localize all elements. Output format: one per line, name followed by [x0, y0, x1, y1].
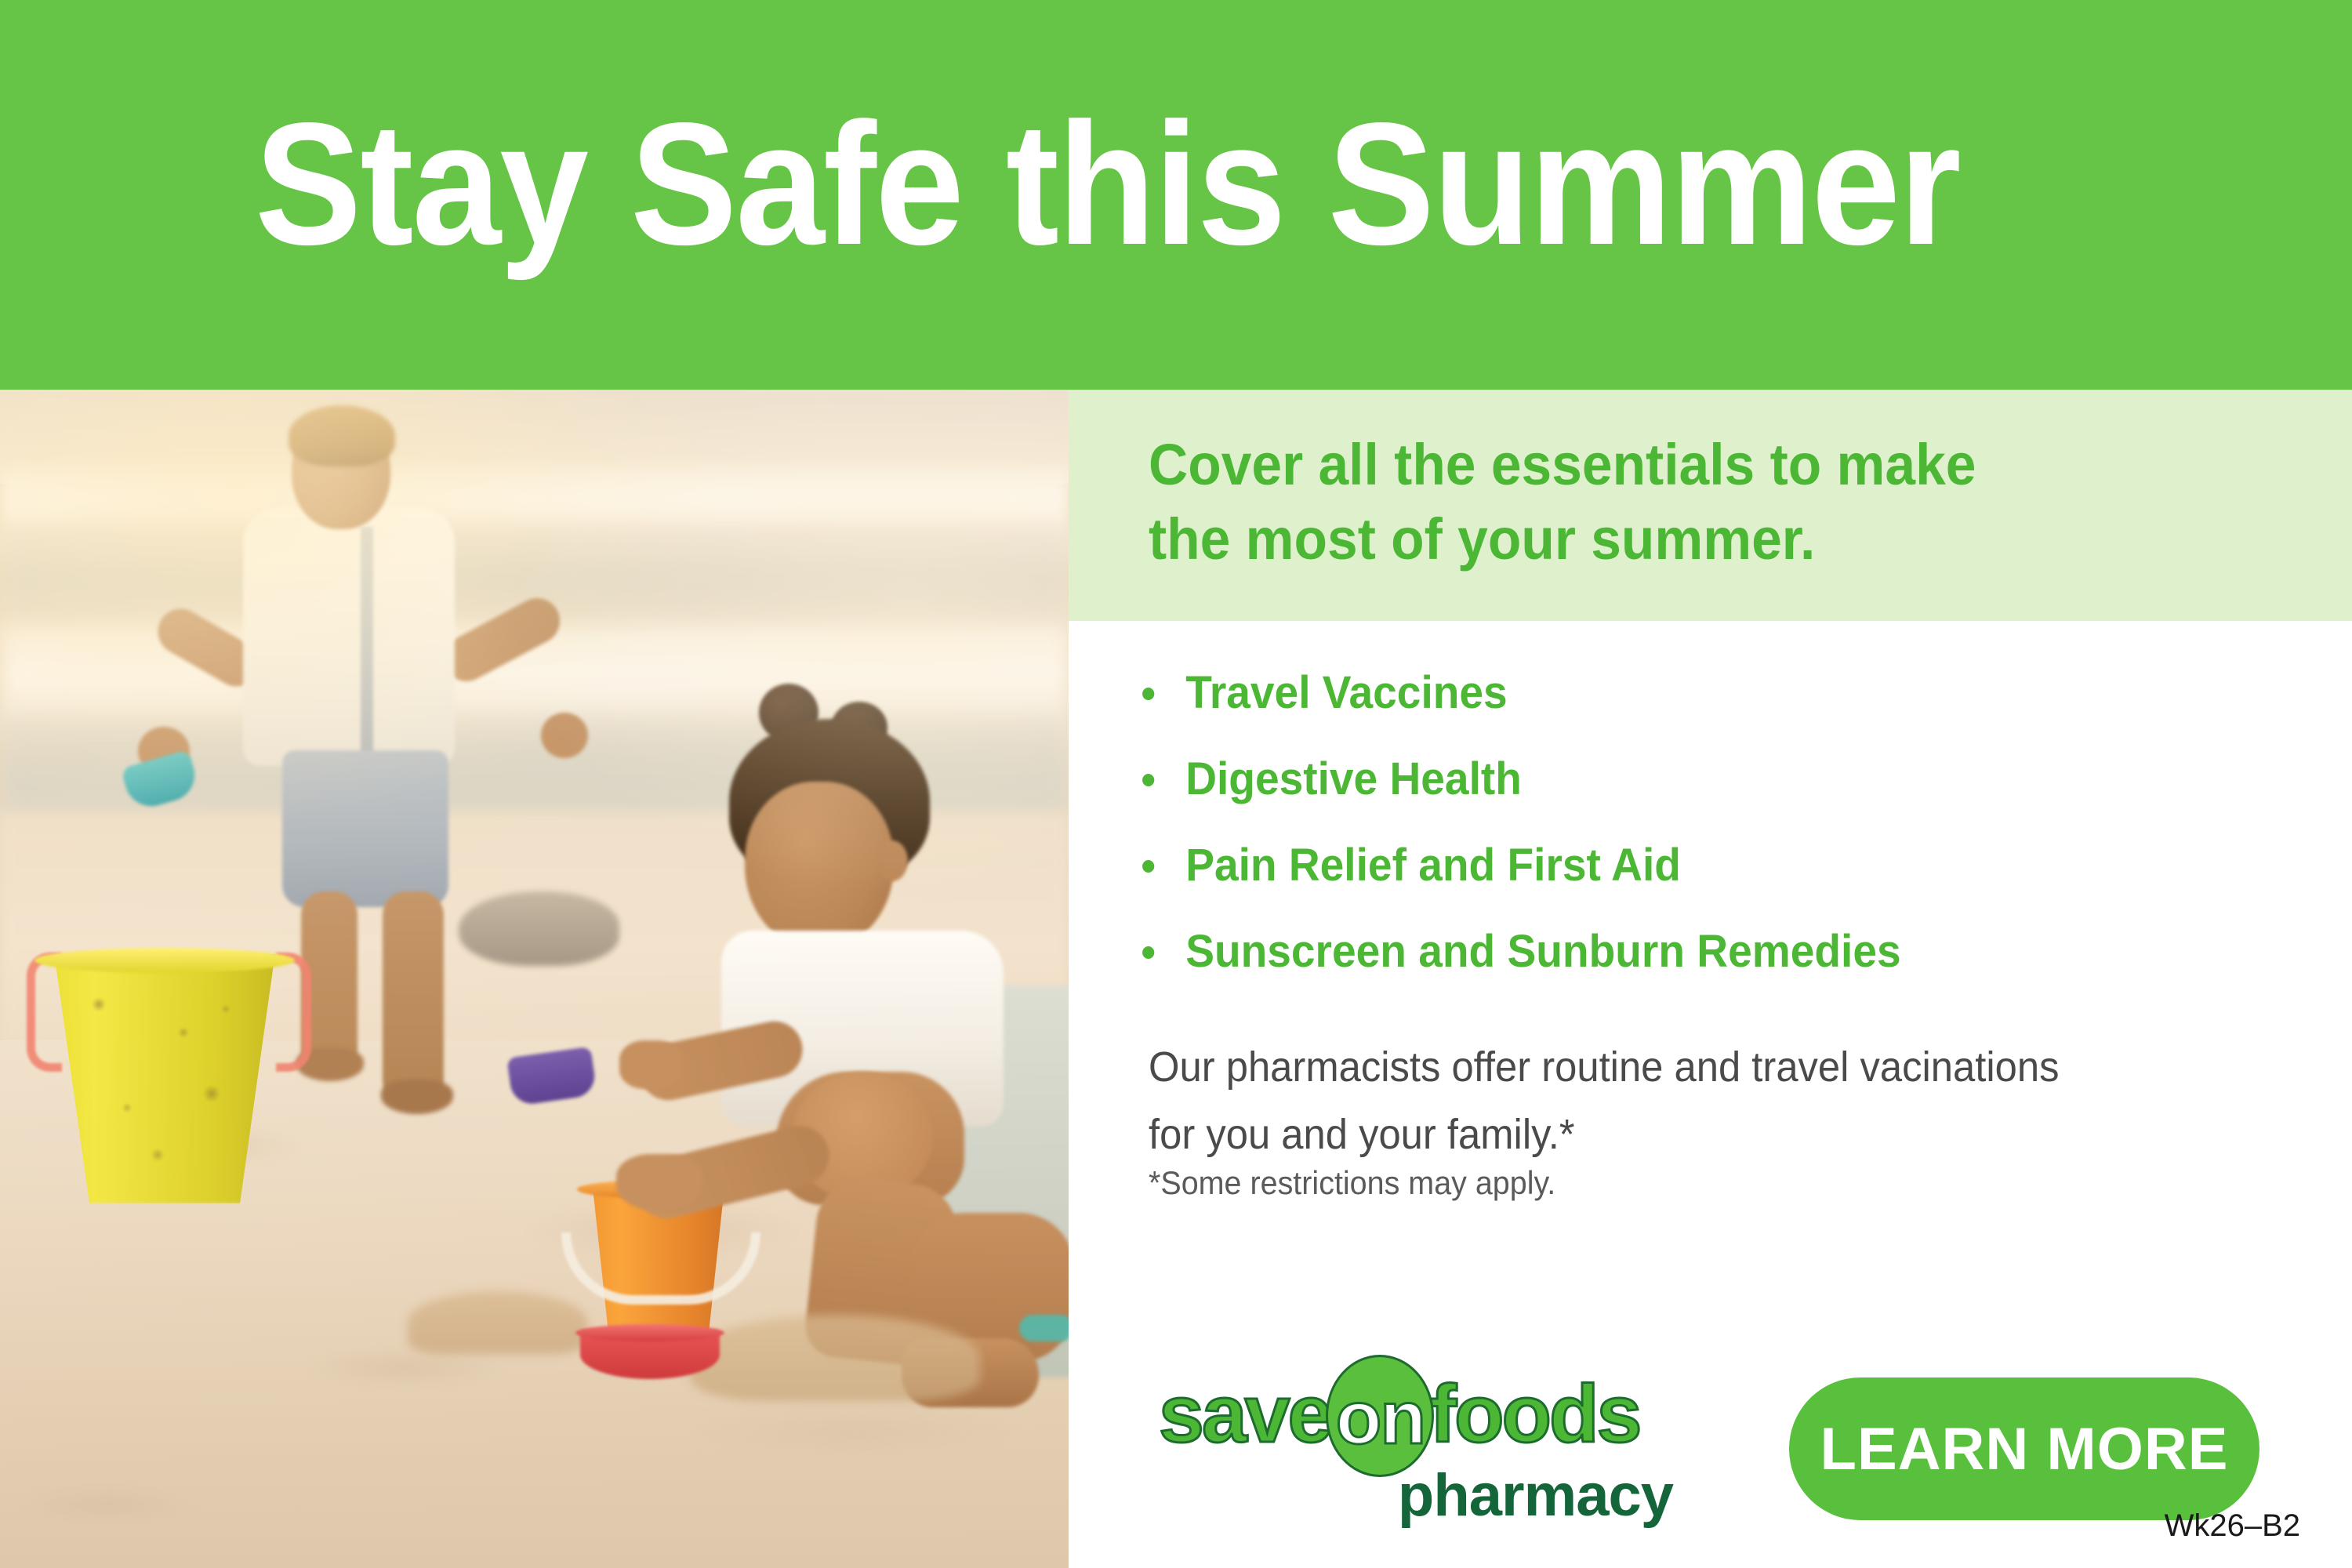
subhead-line-2: the most of your summer. [1149, 502, 2239, 576]
list-item: Travel Vaccines [1129, 670, 2261, 716]
body-copy-line-1: Our pharmacists offer routine and travel… [1149, 1033, 2239, 1101]
logo-word-on: on [1328, 1381, 1432, 1456]
list-item-label: Sunscreen and Sunburn Remedies [1185, 926, 1900, 977]
photo-boy-right-hand [541, 713, 588, 758]
body-copy: Our pharmacists offer routine and travel… [1149, 1033, 2239, 1168]
save-on-foods-pharmacy-logo[interactable]: saveonfoods pharmacy [1159, 1374, 1676, 1538]
services-list: Travel Vaccines Digestive Health Pain Re… [1129, 670, 2321, 1015]
photo-teal-object [1019, 1315, 1069, 1341]
bullet-dot-icon [1142, 774, 1154, 786]
photo-boy-right-foot [381, 1080, 453, 1114]
beach-photo [0, 390, 1069, 1568]
list-item-label: Pain Relief and First Aid [1185, 840, 1681, 891]
photo-red-bowl-rim [575, 1324, 724, 1341]
page-title: Stay Safe this Summer [255, 86, 1986, 282]
subhead: Cover all the essentials to make the mos… [1149, 427, 2239, 576]
list-item: Pain Relief and First Aid [1129, 843, 2261, 888]
list-item-label: Travel Vaccines [1185, 667, 1508, 718]
photo-girl-upper-hand [619, 1040, 682, 1089]
subhead-line-1: Cover all the essentials to make [1149, 427, 2239, 502]
photo-boy-right-leg [383, 891, 444, 1103]
photo-yellow-bucket-rim [34, 948, 295, 973]
bullet-dot-icon [1142, 860, 1154, 873]
photo-sand-mound-left [408, 1291, 588, 1354]
list-item-label: Digestive Health [1185, 753, 1522, 804]
logo-on-oval-icon: on [1326, 1355, 1434, 1477]
list-item: Digestive Health [1129, 757, 2261, 802]
learn-more-button[interactable]: LEARN MORE [1789, 1377, 2259, 1520]
campaign-code: Wk26–B2 [2165, 1507, 2300, 1544]
photo-girl-ear [877, 840, 908, 881]
photo-girl-hand [616, 1154, 702, 1210]
logo-word-foods: foods [1429, 1374, 1639, 1455]
disclaimer: *Some restrictions may apply. [1149, 1163, 2239, 1203]
logo-word-pharmacy: pharmacy [1398, 1466, 1673, 1526]
photo-sand-mound-right [690, 1315, 980, 1401]
photo-boy-shirt-placket [361, 527, 373, 754]
photo-girl-face [745, 782, 894, 950]
logo-wordmark: saveonfoods [1159, 1374, 1639, 1460]
photo-boy-shirt [243, 507, 455, 766]
photo-yellow-bucket-handle-right [276, 953, 311, 1072]
ad-banner: Stay Safe this Summer [0, 0, 2352, 1568]
logo-word-save: save [1159, 1374, 1330, 1455]
bullet-dot-icon [1142, 946, 1154, 959]
bullet-dot-icon [1142, 688, 1154, 700]
photo-boy-shorts [282, 750, 448, 907]
list-item: Sunscreen and Sunburn Remedies [1129, 929, 2261, 975]
photo-boy-hair [289, 405, 395, 466]
photo-rock [459, 891, 619, 966]
body-copy-line-2: for you and your family.* [1149, 1101, 2239, 1168]
